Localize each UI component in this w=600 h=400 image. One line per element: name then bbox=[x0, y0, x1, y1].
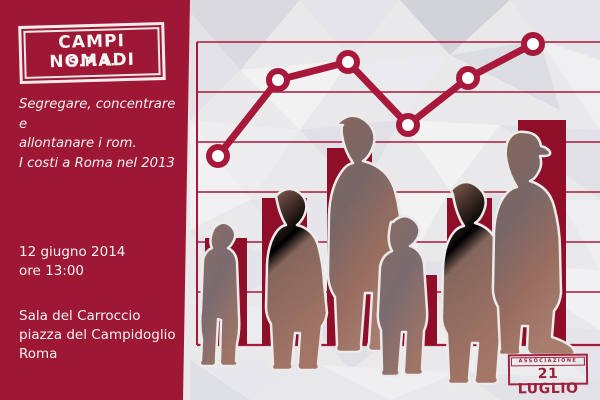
tagline-line-1: Segregare, concentrare e bbox=[19, 95, 181, 134]
event-city: Roma bbox=[19, 345, 191, 364]
silhouette-child-left bbox=[200, 223, 239, 366]
event-venue: Sala del Carroccio bbox=[19, 307, 191, 326]
badge-top-label: ASSOCIAZIONE bbox=[511, 357, 585, 367]
event-address: piazza del Campidoglio bbox=[19, 326, 191, 345]
tagline-line-3: I costi a Roma nel 2013 bbox=[19, 154, 181, 174]
event-datetime: 12 giugno 2014 ore 13:00 bbox=[19, 243, 187, 281]
tagline: Segregare, concentrare e allontanare i r… bbox=[19, 95, 181, 173]
associazione-21-luglio-badge: ASSOCIAZIONE 21 LUGLIO bbox=[508, 354, 588, 386]
event-location: Sala del Carroccio piazza del Campidogli… bbox=[19, 307, 191, 364]
panel-content: CAMPI NOMADI S.P.A. Segregare, concentra… bbox=[0, 0, 190, 400]
silhouette-woman-1 bbox=[266, 189, 327, 370]
badge-name: 21 LUGLIO bbox=[508, 367, 588, 398]
event-date: 12 giugno 2014 bbox=[19, 243, 187, 262]
left-red-panel: CAMPI NOMADI S.P.A. Segregare, concentra… bbox=[0, 0, 196, 400]
event-time: ore 13:00 bbox=[19, 262, 187, 281]
tagline-line-2: allontanare i rom. bbox=[19, 134, 181, 154]
poster-canvas: CAMPI NOMADI S.P.A. Segregare, concentra… bbox=[0, 0, 600, 400]
silhouette-woman-3 bbox=[493, 132, 575, 355]
campi-nomadi-stamp-logo: CAMPI NOMADI S.P.A. bbox=[18, 22, 166, 84]
